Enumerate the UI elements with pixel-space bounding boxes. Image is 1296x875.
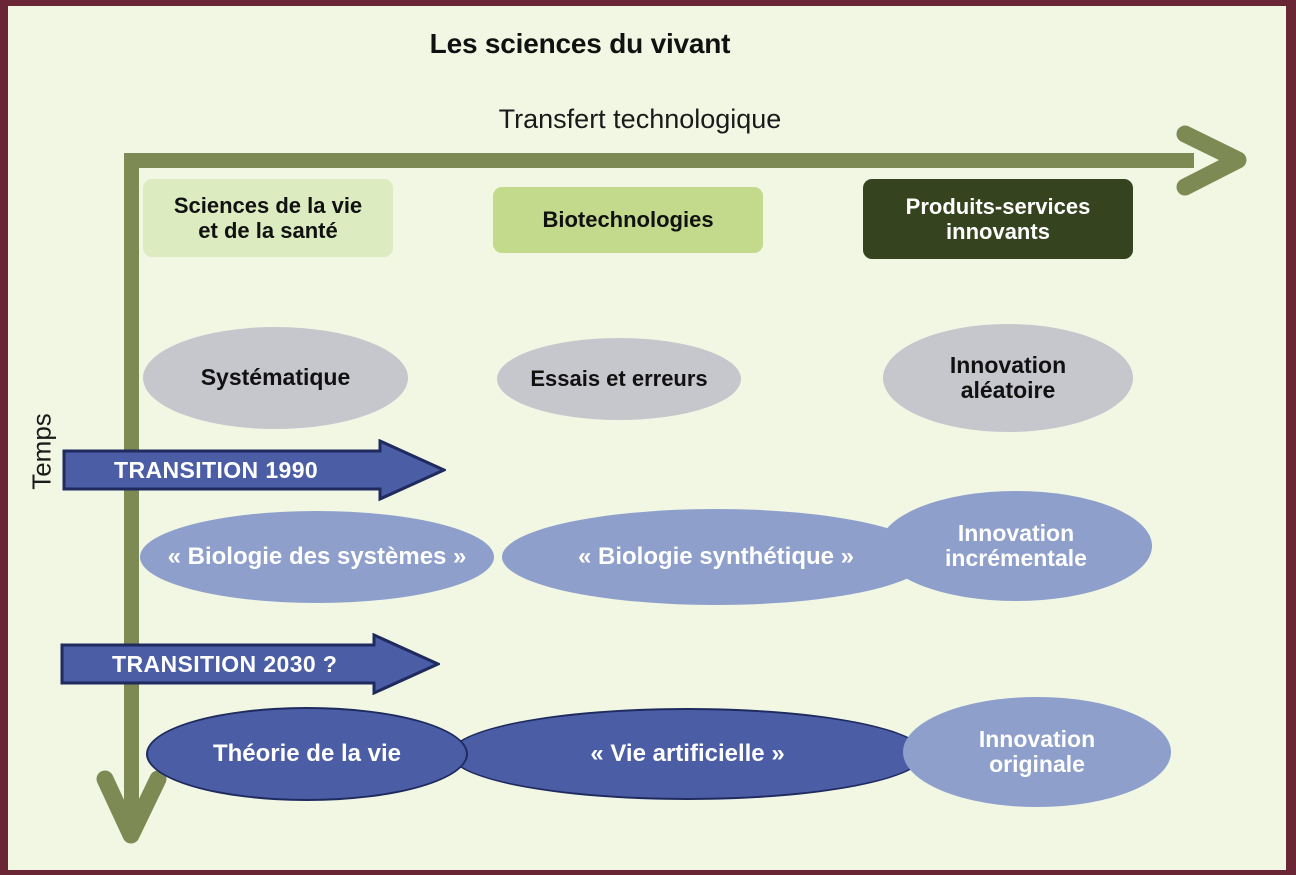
node-systematique: Systématique [143,327,408,429]
node-label: Théorie de la vie [148,741,466,767]
node-innovation-incrementale: Innovationincrémentale [880,491,1152,601]
node-label: Innovationoriginale [903,727,1171,778]
node-innovation-aleatoire: Innovationaléatoire [883,324,1133,432]
node-label: « Biologie des systèmes » [140,544,494,570]
node-biologie-des-systemes: « Biologie des systèmes » [140,511,494,603]
node-label: Innovationincrémentale [880,521,1152,572]
node-label: Systématique [143,365,408,390]
column-header-innovative-products: Produits-servicesinnovants [863,179,1133,259]
transition-arrow-2030: TRANSITION 2030 ? [60,633,440,695]
transition-arrow-1990: TRANSITION 1990 [62,439,446,501]
diagram-canvas: Les sciences du vivant Transfert technol… [0,0,1296,875]
node-innovation-originale: Innovationoriginale [903,697,1171,807]
node-label: « Vie artificielle » [452,741,923,767]
node-theorie-de-la-vie: Théorie de la vie [146,707,468,801]
column-header-biotechnologies: Biotechnologies [493,187,763,253]
node-essais-et-erreurs: Essais et erreurs [497,338,741,420]
node-label: Essais et erreurs [497,367,741,391]
node-vie-artificielle: « Vie artificielle » [450,708,925,800]
column-header-label: Produits-servicesinnovants [906,194,1091,244]
transition-label: TRANSITION 2030 ? [60,633,440,695]
column-header-label: Sciences de la vieet de la santé [174,193,362,243]
column-header-label: Biotechnologies [542,207,713,232]
node-label: Innovationaléatoire [883,353,1133,404]
node-biologie-synthetique: « Biologie synthétique » [502,509,930,605]
transition-label: TRANSITION 1990 [62,439,446,501]
node-label: « Biologie synthétique » [502,544,930,570]
column-header-life-sciences: Sciences de la vieet de la santé [143,179,393,257]
